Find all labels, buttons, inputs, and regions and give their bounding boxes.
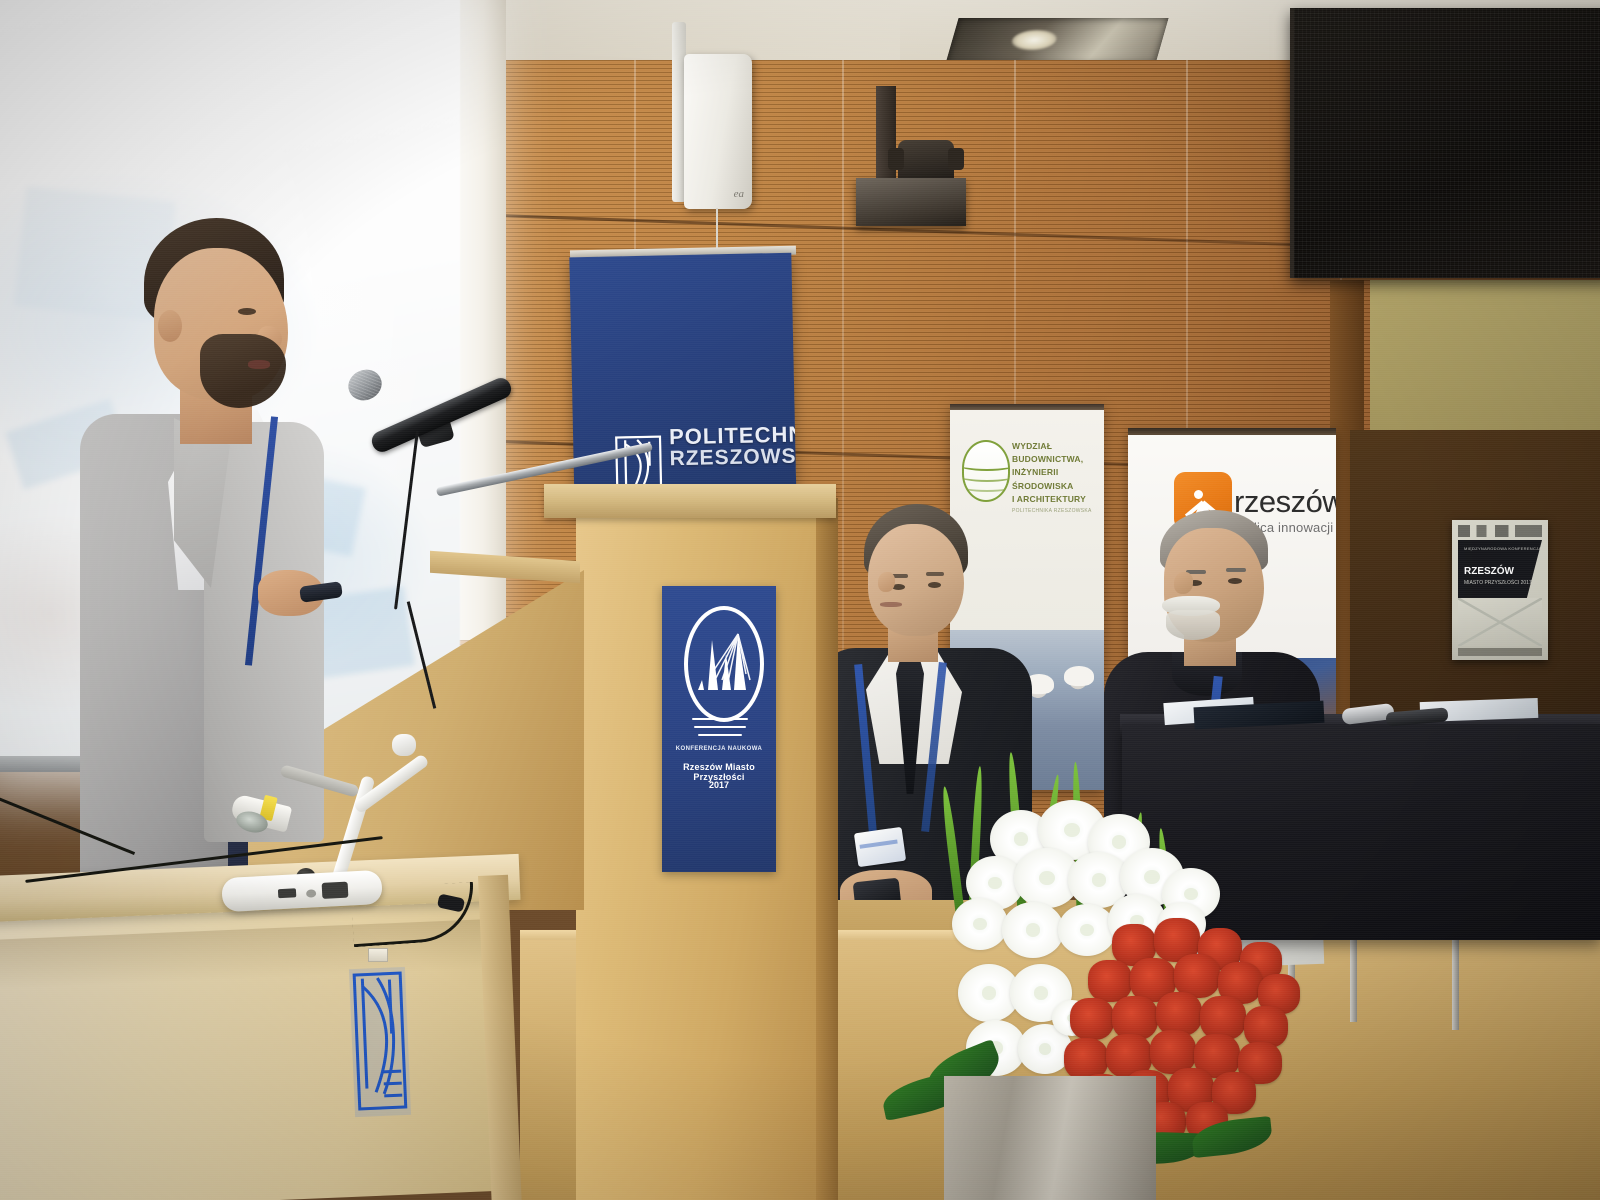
poster-subtitle: MIASTO PRZYSZŁOŚCI 2017 bbox=[1464, 580, 1532, 586]
desk-socket[interactable] bbox=[368, 948, 388, 962]
faculty-line3: INŻYNIERII ŚRODOWISKA bbox=[1012, 466, 1102, 492]
banner-org-name: POLITECHNIKA RZESZOWSKA bbox=[669, 421, 797, 471]
prz-emblem-plate bbox=[349, 967, 411, 1117]
panelist-beard bbox=[1166, 610, 1220, 640]
event-year: 2017 bbox=[662, 780, 776, 790]
politechnika-banner: POLITECHNIKA RZESZOWSKA bbox=[569, 253, 796, 516]
speaker-ear bbox=[158, 310, 182, 342]
panelist-nose bbox=[878, 572, 895, 592]
wall-poster: MIĘDZYNARODOWA KONFERENCJA RZESZÓW MIAST… bbox=[1452, 520, 1548, 660]
conference-photo: ea POLITECHNIKA RZESZOWSKA WYDZIAŁ BUDOW… bbox=[0, 0, 1600, 1200]
document-camera-elbow bbox=[392, 734, 416, 756]
poster-header-band: MIĘDZYNARODOWA KONFERENCJA RZESZÓW MIAST… bbox=[1458, 540, 1542, 598]
faculty-line1: WYDZIAŁ bbox=[1012, 440, 1102, 453]
rzeszow-bridge-logo-icon bbox=[688, 614, 754, 710]
banner-top-clip bbox=[1128, 428, 1336, 435]
panelist-mouth bbox=[880, 602, 902, 607]
banner-top-clip bbox=[950, 404, 1104, 410]
poster-title: RZESZÓW bbox=[1464, 566, 1514, 577]
speaker-mouth bbox=[248, 360, 270, 369]
speaker-eye bbox=[238, 308, 256, 315]
ceiling-projector bbox=[856, 178, 966, 226]
lectern-event-sign: KONFERENCJA NAUKOWA Rzeszów Miasto Przys… bbox=[662, 586, 776, 872]
poster-footer-band bbox=[1458, 648, 1542, 656]
wall-loudspeaker: ea bbox=[684, 54, 752, 209]
poster-kicker: MIĘDZYNARODOWA KONFERENCJA bbox=[1464, 546, 1541, 551]
black-acoustic-panel bbox=[1290, 8, 1600, 278]
faculty-name: WYDZIAŁ BUDOWNICTWA, INŻYNIERII ŚRODOWIS… bbox=[1012, 440, 1102, 506]
panelist-nose bbox=[1174, 572, 1193, 594]
speaker-at-lectern bbox=[62, 214, 382, 914]
faculty-logo-icon bbox=[962, 440, 1010, 502]
banner-org-line2: RZESZOWSKA bbox=[669, 445, 796, 471]
speaker-beard bbox=[200, 334, 286, 408]
prz-logo-icon bbox=[349, 967, 411, 1117]
flower-vase bbox=[944, 1076, 1156, 1200]
lectern-side-panel bbox=[816, 498, 838, 1200]
faculty-line2: BUDOWNICTWA, bbox=[1012, 453, 1102, 466]
lectern-top bbox=[544, 484, 836, 518]
event-kicker: KONFERENCJA NAUKOWA bbox=[662, 746, 776, 752]
event-title: Rzeszów Miasto Przyszłości bbox=[662, 762, 776, 782]
poster-artwork bbox=[1458, 598, 1542, 646]
poster-sponsor-logos bbox=[1458, 525, 1542, 537]
loudspeaker-brand-label: ea bbox=[734, 188, 744, 200]
recessed-downlight-icon bbox=[945, 18, 1168, 64]
